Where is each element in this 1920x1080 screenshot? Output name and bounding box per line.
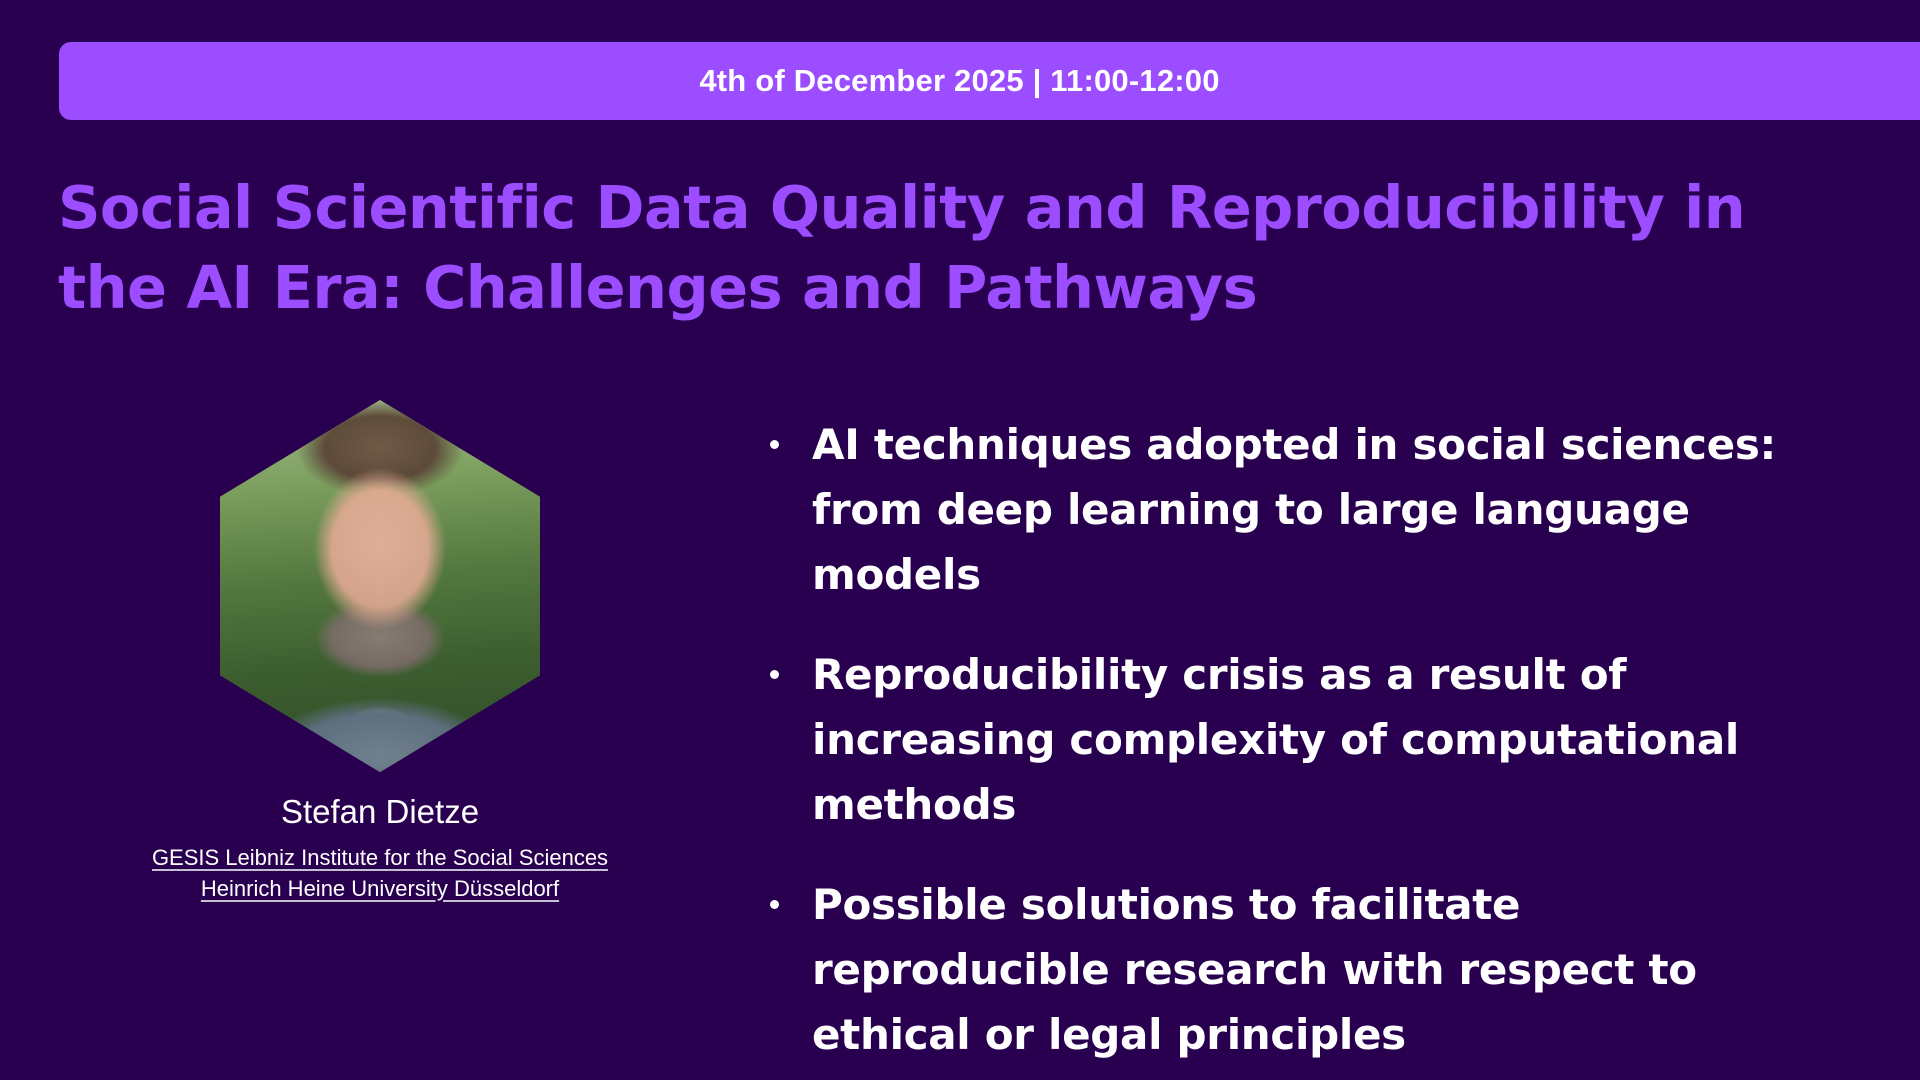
slide-body: Stefan Dietze GESIS Leibniz Institute fo… xyxy=(0,400,1920,1060)
speaker-name: Stefan Dietze xyxy=(281,792,479,832)
affiliation-line-2: Heinrich Heine University Düsseldorf xyxy=(201,873,559,904)
list-item-text: Reproducibility crisis as a result of in… xyxy=(812,650,1739,829)
speaker-block: Stefan Dietze GESIS Leibniz Institute fo… xyxy=(120,400,640,904)
bullet-dot-icon xyxy=(770,440,779,449)
talk-title-line-2: the AI Era: Challenges and Pathways xyxy=(58,248,1678,328)
bullet-dot-icon xyxy=(770,900,779,909)
list-item: AI techniques adopted in social sciences… xyxy=(760,412,1800,607)
speaker-portrait-hexagon xyxy=(220,400,540,772)
talk-title: Social Scientific Data Quality and Repro… xyxy=(58,168,1678,328)
affiliation-line-1: GESIS Leibniz Institute for the Social S… xyxy=(152,842,608,873)
list-item: Reproducibility crisis as a result of in… xyxy=(760,642,1800,837)
list-item: Possible solutions to facilitate reprodu… xyxy=(760,872,1800,1067)
talk-title-line-1: Social Scientific Data Quality and Repro… xyxy=(58,168,1678,248)
speaker-affiliation: GESIS Leibniz Institute for the Social S… xyxy=(152,842,608,904)
speaker-column: Stefan Dietze GESIS Leibniz Institute fo… xyxy=(0,400,760,904)
date-time-banner: 4th of December 2025 | 11:00-12:00 xyxy=(59,42,1920,120)
talk-topics-list: AI techniques adopted in social sciences… xyxy=(760,412,1860,1067)
bullets-column: AI techniques adopted in social sciences… xyxy=(760,400,1920,1067)
list-item-text: Possible solutions to facilitate reprodu… xyxy=(812,880,1697,1059)
bullet-dot-icon xyxy=(770,670,779,679)
list-item-text: AI techniques adopted in social sciences… xyxy=(812,420,1776,599)
date-time-text: 4th of December 2025 | 11:00-12:00 xyxy=(699,63,1219,99)
photo-overlay xyxy=(220,400,540,772)
